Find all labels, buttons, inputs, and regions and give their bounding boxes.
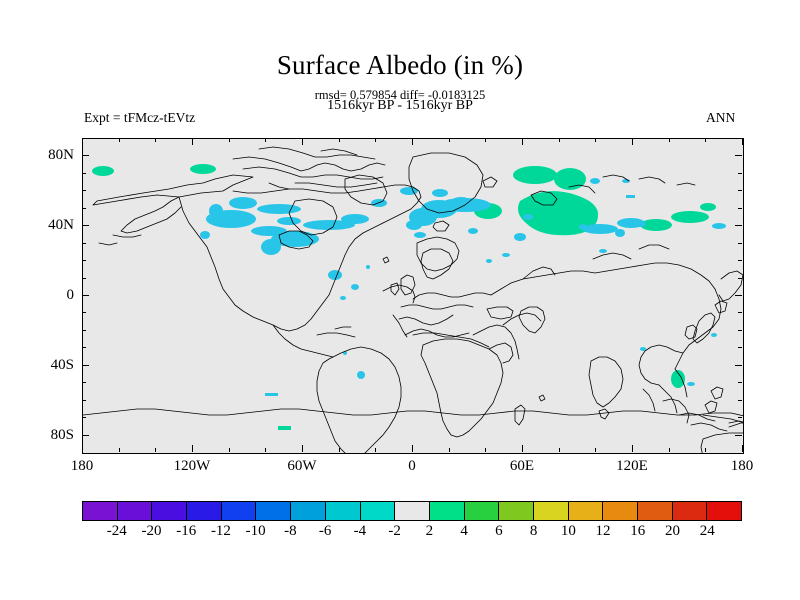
x-tick [559, 448, 560, 452]
y-tick [82, 225, 89, 226]
y-axis-label: 40N [24, 217, 74, 233]
x-axis-label: 0 [408, 458, 416, 474]
y-tick-right [735, 435, 742, 436]
x-tick-top [339, 138, 340, 142]
y-tick [82, 435, 89, 436]
colorbar-cell[interactable] [256, 502, 291, 520]
y-tick-right [738, 260, 742, 261]
y-tick [82, 208, 86, 209]
x-tick [192, 445, 193, 452]
colorbar-cell[interactable] [83, 502, 118, 520]
x-tick-top [559, 138, 560, 142]
y-tick-right [738, 330, 742, 331]
x-tick [742, 445, 743, 452]
x-axis-label: 60E [510, 458, 534, 474]
x-axis-label: 60W [287, 458, 316, 474]
colorbar-tick-label: -2 [388, 523, 401, 539]
x-tick-top [119, 138, 120, 142]
x-tick [705, 448, 706, 452]
y-tick-right [738, 400, 742, 401]
x-tick-top [82, 138, 83, 145]
x-tick [82, 445, 83, 452]
x-tick [632, 445, 633, 452]
y-tick [82, 173, 86, 174]
colorbar-cell[interactable] [534, 502, 569, 520]
colorbar-cells[interactable] [82, 501, 742, 521]
figure-canvas: Surface Albedo (in %) rmsd= 0.579854 dif… [0, 0, 800, 600]
x-tick-top [412, 138, 413, 145]
colorbar-cell[interactable] [465, 502, 500, 520]
x-tick-top [485, 138, 486, 142]
experiment-label: Expt = tFMcz-tEVtz [84, 110, 195, 125]
y-tick-right [738, 173, 742, 174]
x-tick-top [265, 138, 266, 142]
x-tick [485, 448, 486, 452]
colorbar-cell[interactable] [152, 502, 187, 520]
y-tick [82, 312, 86, 313]
colorbar-cell[interactable] [361, 502, 396, 520]
colorbar-tick-label: 8 [530, 523, 538, 539]
x-tick [229, 448, 230, 452]
x-axis-label: 180 [71, 458, 94, 474]
x-tick-top [632, 138, 633, 145]
y-tick [82, 243, 86, 244]
y-tick [82, 417, 86, 418]
page-title: Surface Albedo (in %) [0, 50, 800, 80]
y-tick [82, 330, 86, 331]
y-tick-right [738, 347, 742, 348]
colorbar-tick-label: -20 [141, 523, 161, 539]
y-tick [82, 295, 89, 296]
x-tick [339, 448, 340, 452]
y-tick-right [735, 225, 742, 226]
x-tick-top [192, 138, 193, 145]
x-tick-top [669, 138, 670, 142]
colorbar-cell[interactable] [395, 502, 430, 520]
y-axis-label: 80S [24, 427, 74, 443]
x-tick-top [595, 138, 596, 142]
y-tick [82, 260, 86, 261]
y-tick-right [735, 295, 742, 296]
colorbar-tick-label: -16 [176, 523, 196, 539]
colorbar-cell[interactable] [603, 502, 638, 520]
x-tick [375, 448, 376, 452]
y-tick-right [735, 155, 742, 156]
x-tick-top [375, 138, 376, 142]
x-tick [412, 445, 413, 452]
colorbar-tick-label: -4 [354, 523, 367, 539]
x-tick [449, 448, 450, 452]
x-tick-top [705, 138, 706, 142]
colorbar-cell[interactable] [222, 502, 257, 520]
y-tick-right [738, 417, 742, 418]
y-tick-right [738, 382, 742, 383]
colorbar-tick-label: 2 [426, 523, 434, 539]
colorbar-tick-label: -8 [284, 523, 297, 539]
x-tick-top [302, 138, 303, 145]
season-label: ANN [706, 110, 735, 125]
x-tick-top [229, 138, 230, 142]
colorbar-tick-label: -24 [107, 523, 127, 539]
y-tick-right [738, 278, 742, 279]
colorbar-cell[interactable] [430, 502, 465, 520]
y-tick [82, 400, 86, 401]
colorbar-cell[interactable] [326, 502, 361, 520]
y-tick [82, 347, 86, 348]
colorbar-cell[interactable] [638, 502, 673, 520]
x-tick [595, 448, 596, 452]
x-tick-top [522, 138, 523, 145]
colorbar-tick-label: -10 [246, 523, 266, 539]
x-tick [119, 448, 120, 452]
colorbar-tick-label: 12 [596, 523, 611, 539]
y-axis-label: 40S [24, 357, 74, 373]
shaded-anomaly-regions [92, 164, 726, 453]
y-tick-right [738, 312, 742, 313]
colorbar-cell[interactable] [569, 502, 604, 520]
map-plot-area[interactable] [82, 138, 744, 454]
colorbar-cell[interactable] [707, 502, 741, 520]
y-tick [82, 278, 86, 279]
x-tick-top [155, 138, 156, 142]
colorbar-tick-label: 6 [495, 523, 503, 539]
colorbar-tick-label: -6 [319, 523, 332, 539]
world-map-svg [83, 139, 743, 453]
y-axis-label: 0 [24, 287, 74, 303]
x-tick [302, 445, 303, 452]
colorbar-cell[interactable] [499, 502, 534, 520]
x-tick [155, 448, 156, 452]
colorbar-tick-label: 24 [700, 523, 715, 539]
colorbar-cell[interactable] [187, 502, 222, 520]
colorbar-cell[interactable] [291, 502, 326, 520]
y-tick-right [735, 365, 742, 366]
colorbar-tick-label: 4 [460, 523, 468, 539]
x-tick-top [449, 138, 450, 142]
colorbar-tick-label: -12 [211, 523, 231, 539]
y-tick [82, 155, 89, 156]
x-axis-label: 120W [174, 458, 211, 474]
y-tick-right [738, 208, 742, 209]
y-tick-right [738, 190, 742, 191]
colorbar-tick-label: 20 [665, 523, 680, 539]
colorbar-cell[interactable] [673, 502, 708, 520]
x-axis-label: 180 [731, 458, 754, 474]
y-tick [82, 190, 86, 191]
x-tick [669, 448, 670, 452]
colorbar[interactable] [82, 501, 742, 521]
x-tick [265, 448, 266, 452]
colorbar-tick-label: 10 [561, 523, 576, 539]
x-tick [522, 445, 523, 452]
y-tick [82, 365, 89, 366]
y-axis-label: 80N [24, 147, 74, 163]
y-tick-right [738, 243, 742, 244]
x-tick-top [742, 138, 743, 145]
x-axis-label: 120E [616, 458, 648, 474]
colorbar-cell[interactable] [118, 502, 153, 520]
colorbar-tick-label: 16 [630, 523, 645, 539]
y-tick [82, 382, 86, 383]
